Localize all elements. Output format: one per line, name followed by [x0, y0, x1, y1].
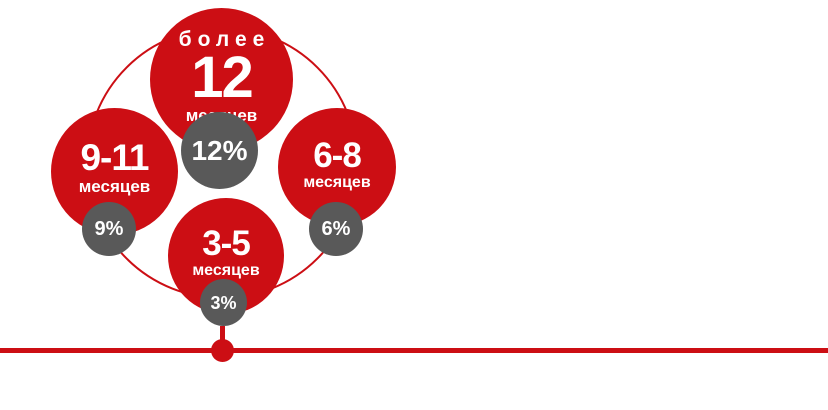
bubble-left-unit: месяцев — [79, 178, 151, 195]
percent-badge-12[interactable]: 12% — [181, 112, 258, 189]
percent-badge-9[interactable]: 9% — [82, 202, 136, 256]
bubble-right-value: 6-8 — [313, 138, 361, 173]
infographic-canvas: более 12 месяцев 9-11 месяцев 6-8 месяце… — [0, 0, 828, 410]
bubble-top-value: 12 — [191, 51, 252, 104]
timeline-marker-dot — [211, 339, 234, 362]
bubble-right-unit: месяцев — [303, 175, 370, 191]
percent-badge-3[interactable]: 3% — [200, 279, 247, 326]
bubble-bottom-unit: месяцев — [192, 263, 259, 279]
bubble-bottom-value: 3-5 — [202, 226, 250, 261]
percent-badge-6[interactable]: 6% — [309, 202, 363, 256]
bubble-left-value: 9-11 — [80, 139, 148, 176]
timeline-baseline — [0, 348, 828, 353]
